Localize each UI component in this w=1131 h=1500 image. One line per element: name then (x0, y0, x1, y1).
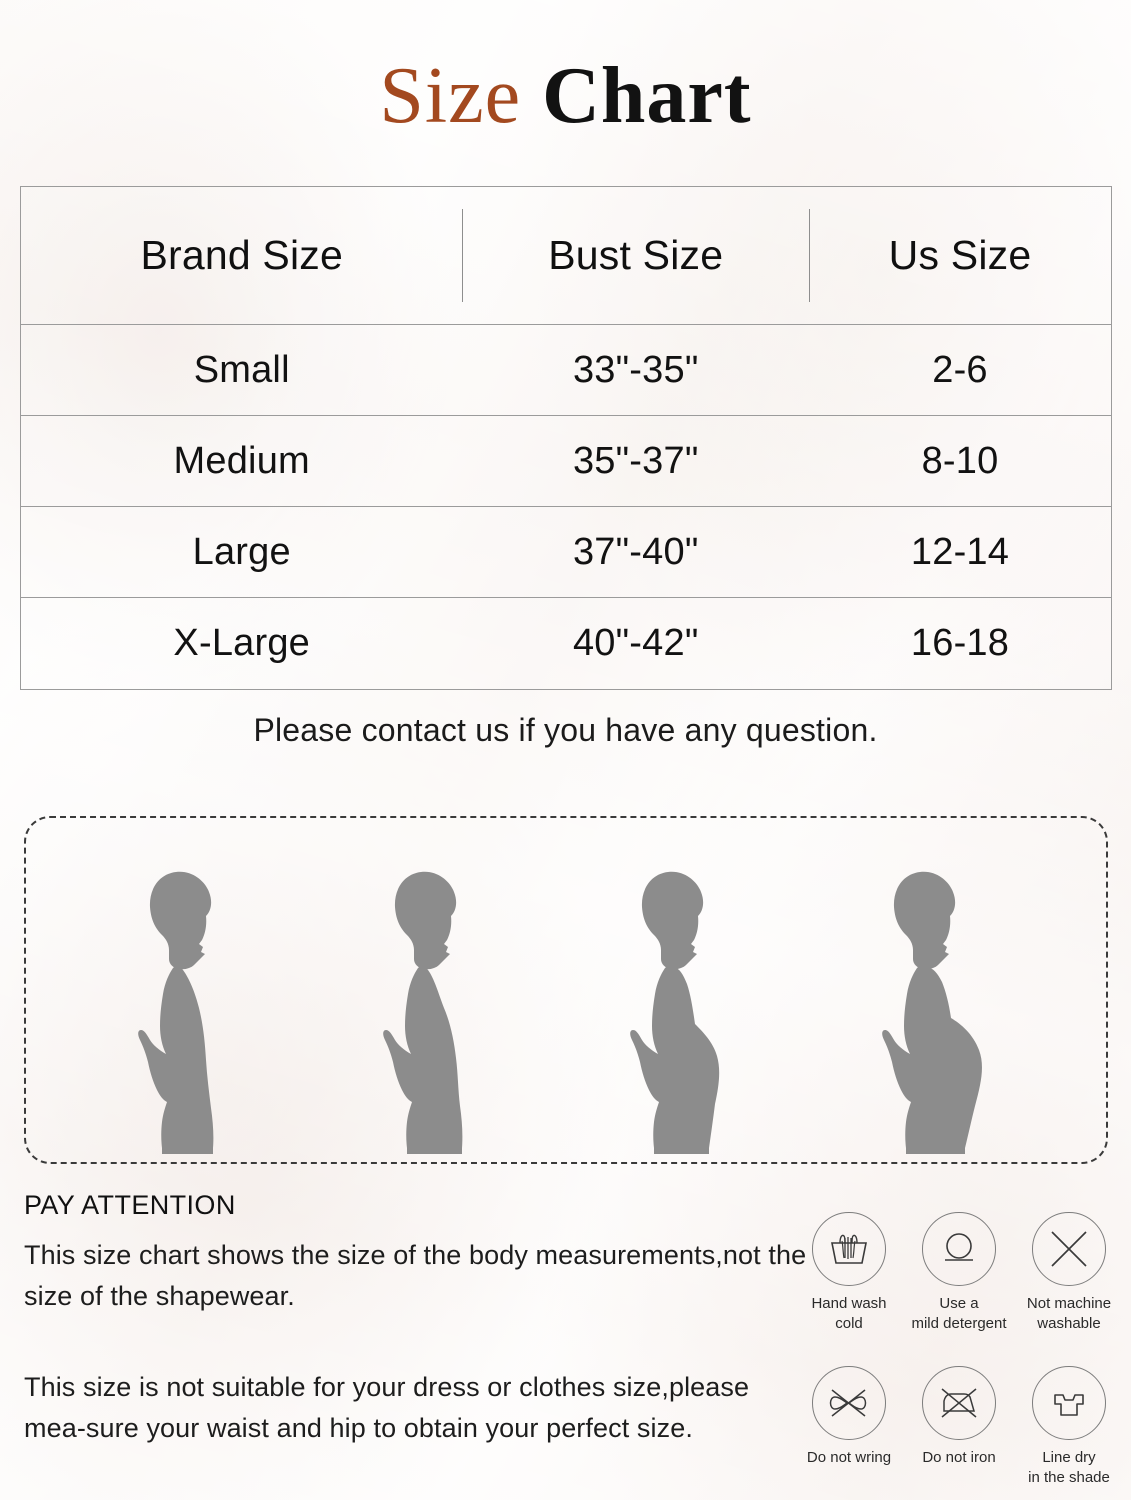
no-machine-wash-icon (1032, 1212, 1106, 1286)
care-item-do-not-iron: Do not iron (910, 1366, 1008, 1487)
silhouette-stage-3 (623, 864, 745, 1154)
size-chart-page: Size Chart Brand Size Bust Size Us Size … (0, 0, 1131, 1500)
notes-block: PAY ATTENTION This size chart shows the … (24, 1190, 814, 1449)
table-row: Small 33"-35" 2-6 (21, 325, 1111, 416)
care-label: Do not wring (800, 1448, 898, 1468)
cell-us-size: 8-10 (809, 440, 1111, 483)
cell-brand-size: Medium (21, 440, 462, 483)
care-label: Hand wash cold (800, 1294, 898, 1333)
column-header-brand-size: Brand Size (21, 232, 462, 279)
line-dry-shade-icon (1032, 1366, 1106, 1440)
care-label: Do not iron (910, 1448, 1008, 1468)
size-table: Brand Size Bust Size Us Size Small 33"-3… (20, 186, 1112, 690)
cell-us-size: 16-18 (809, 622, 1111, 665)
care-item-mild-detergent: Use a mild detergent (910, 1212, 1008, 1333)
cell-brand-size: Small (21, 349, 462, 392)
cell-us-size: 12-14 (809, 531, 1111, 574)
care-label: Use a mild detergent (910, 1294, 1008, 1333)
table-row: Medium 35"-37" 8-10 (21, 416, 1111, 507)
pay-attention-heading: PAY ATTENTION (24, 1190, 814, 1221)
table-row: Large 37"-40" 12-14 (21, 507, 1111, 598)
silhouette-panel (24, 816, 1108, 1164)
note-paragraph-1: This size chart shows the size of the bo… (24, 1235, 814, 1317)
mild-detergent-icon (922, 1212, 996, 1286)
cell-bust-size: 37"-40" (462, 531, 809, 574)
cell-bust-size: 40"-42" (462, 622, 809, 665)
cell-brand-size: Large (21, 531, 462, 574)
care-label: Not machine washable (1020, 1294, 1118, 1333)
title-part-size: Size (379, 52, 521, 140)
do-not-iron-icon (922, 1366, 996, 1440)
title-part-chart: Chart (542, 52, 751, 140)
table-row: X-Large 40"-42" 16-18 (21, 598, 1111, 689)
column-header-us-size: Us Size (809, 232, 1111, 279)
do-not-wring-icon (812, 1366, 886, 1440)
silhouette-stage-4 (875, 864, 1003, 1154)
cell-us-size: 2-6 (809, 349, 1111, 392)
header-divider-1 (462, 209, 463, 302)
contact-note: Please contact us if you have any questi… (0, 712, 1131, 749)
care-item-line-dry-shade: Line dry in the shade (1020, 1366, 1118, 1487)
note-paragraph-2: This size is not suitable for your dress… (24, 1367, 814, 1449)
silhouette-stage-2 (374, 864, 492, 1154)
cell-brand-size: X-Large (21, 622, 462, 665)
hand-wash-icon (812, 1212, 886, 1286)
care-item-no-machine-wash: Not machine washable (1020, 1212, 1118, 1333)
cell-bust-size: 33"-35" (462, 349, 809, 392)
table-header-row: Brand Size Bust Size Us Size (21, 187, 1111, 325)
care-item-hand-wash: Hand wash cold (800, 1212, 898, 1333)
cell-bust-size: 35"-37" (462, 440, 809, 483)
care-item-do-not-wring: Do not wring (800, 1366, 898, 1487)
care-instructions: Hand wash cold Use a mild detergent (800, 1212, 1118, 1487)
column-header-bust-size: Bust Size (462, 232, 809, 279)
silhouette-stage-1 (129, 864, 244, 1154)
care-label: Line dry in the shade (1020, 1448, 1118, 1487)
page-title: Size Chart (0, 0, 1131, 112)
header-divider-2 (809, 209, 810, 302)
